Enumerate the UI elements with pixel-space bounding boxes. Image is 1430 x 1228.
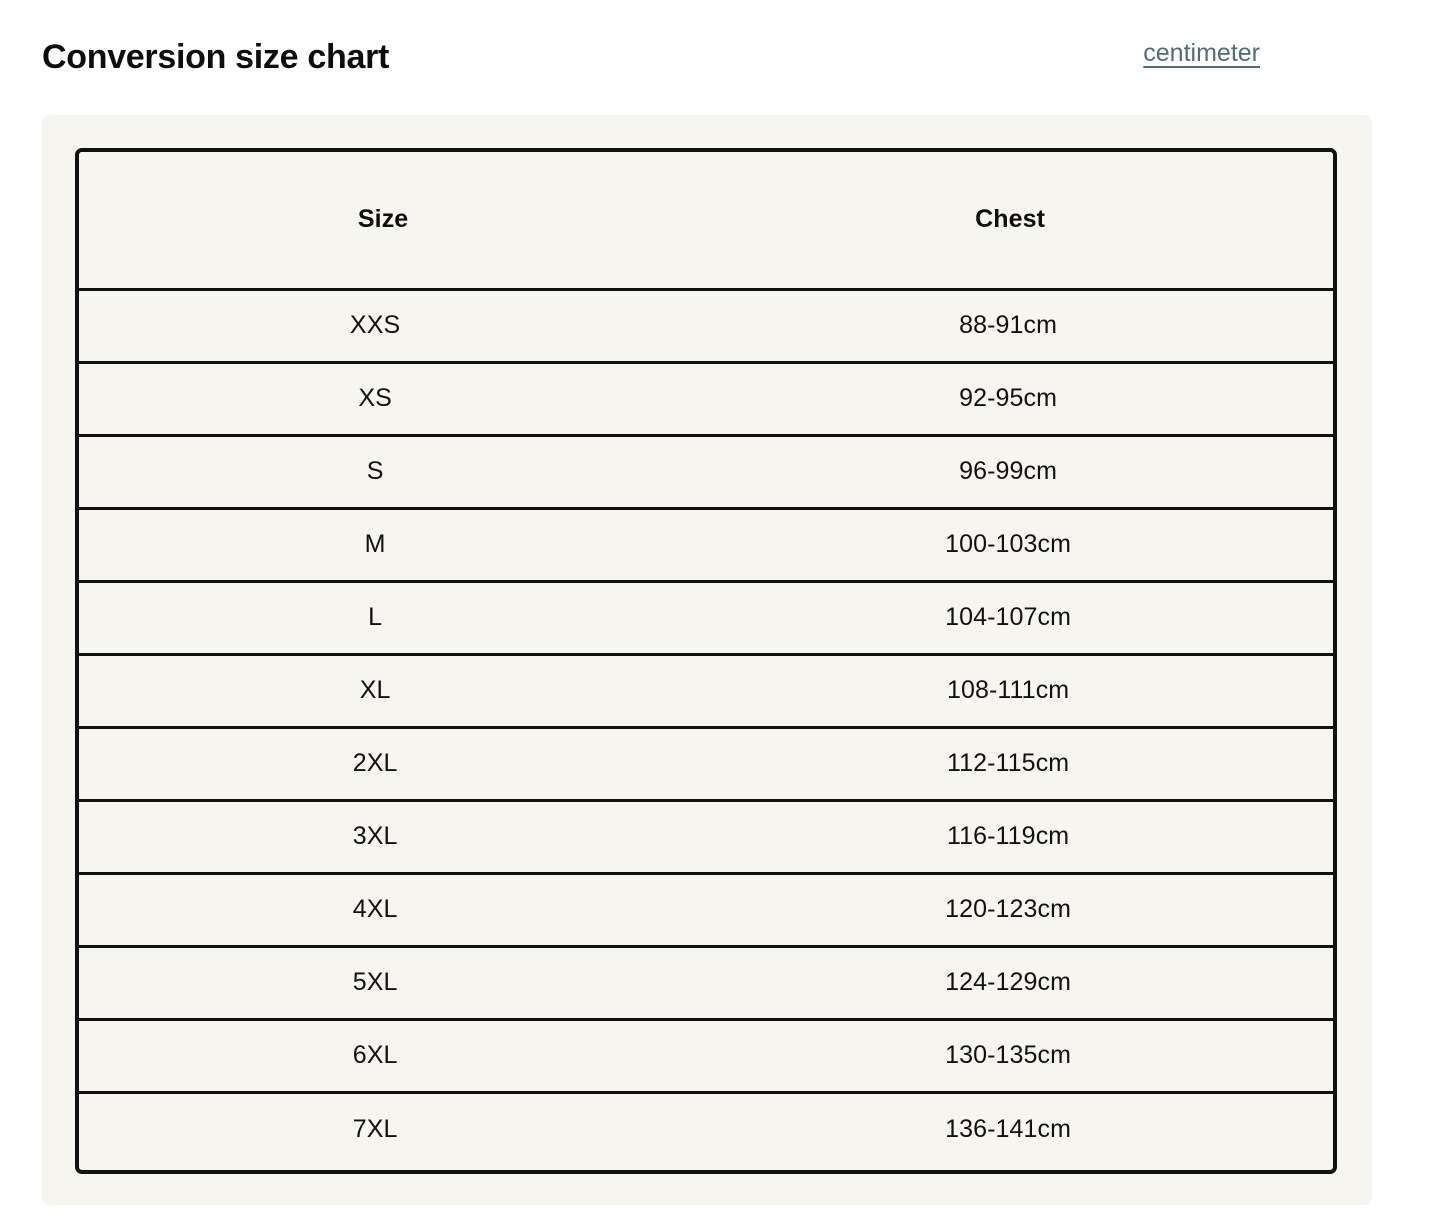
cell-chest: 100-103cm — [687, 508, 1333, 581]
cell-size-value: 6XL — [75, 1041, 679, 1070]
cell-chest: 116-119cm — [687, 800, 1333, 873]
cell-chest: 104-107cm — [687, 581, 1333, 654]
cell-size: 4XL — [79, 873, 687, 946]
table-header-row: Size Chest — [79, 152, 1333, 289]
column-header-size-label: Size — [79, 205, 687, 234]
cell-size: L — [79, 581, 687, 654]
cell-chest: 130-135cm — [687, 1019, 1333, 1092]
cell-size: 3XL — [79, 800, 687, 873]
table-header: Size Chest — [79, 152, 1333, 289]
cell-size: XXS — [79, 289, 687, 362]
table-row: 5XL124-129cm — [79, 946, 1333, 1019]
cell-chest: 96-99cm — [687, 435, 1333, 508]
cell-size-value: 7XL — [75, 1115, 679, 1144]
cell-chest-value: 100-103cm — [685, 530, 1331, 559]
table-row: 4XL120-123cm — [79, 873, 1333, 946]
table-row: XS92-95cm — [79, 362, 1333, 435]
table-row: S96-99cm — [79, 435, 1333, 508]
cell-chest-value: 112-115cm — [685, 749, 1331, 778]
cell-chest: 92-95cm — [687, 362, 1333, 435]
page-title: Conversion size chart — [42, 34, 389, 80]
cell-size: M — [79, 508, 687, 581]
column-header-chest: Chest — [687, 152, 1333, 289]
cell-size: XS — [79, 362, 687, 435]
cell-size: 5XL — [79, 946, 687, 1019]
size-chart-table: Size Chest XXS88-91cmXS92-95cmS96-99cmM1… — [75, 148, 1337, 1174]
cell-size-value: XL — [75, 676, 679, 705]
size-chart-panel: Size Chest XXS88-91cmXS92-95cmS96-99cmM1… — [42, 115, 1372, 1205]
cell-chest: 112-115cm — [687, 727, 1333, 800]
cell-chest: 124-129cm — [687, 946, 1333, 1019]
cell-size: XL — [79, 654, 687, 727]
cell-size: 6XL — [79, 1019, 687, 1092]
cell-chest: 136-141cm — [687, 1092, 1333, 1165]
cell-chest: 120-123cm — [687, 873, 1333, 946]
table-row: L104-107cm — [79, 581, 1333, 654]
table-row: 2XL112-115cm — [79, 727, 1333, 800]
cell-chest: 88-91cm — [687, 289, 1333, 362]
table-row: 7XL136-141cm — [79, 1092, 1333, 1165]
cell-size: 2XL — [79, 727, 687, 800]
cell-chest-value: 108-111cm — [685, 676, 1331, 705]
cell-chest-value: 120-123cm — [685, 895, 1331, 924]
cell-chest-value: 92-95cm — [685, 384, 1331, 413]
cell-chest: 108-111cm — [687, 654, 1333, 727]
cell-size-value: 5XL — [75, 968, 679, 997]
table-row: 3XL116-119cm — [79, 800, 1333, 873]
cell-size-value: L — [75, 603, 679, 632]
cell-size-value: XS — [75, 384, 679, 413]
table-row: 6XL130-135cm — [79, 1019, 1333, 1092]
table-body: XXS88-91cmXS92-95cmS96-99cmM100-103cmL10… — [79, 289, 1333, 1165]
table-row: XL108-111cm — [79, 654, 1333, 727]
cell-chest-value: 130-135cm — [685, 1041, 1331, 1070]
cell-chest-value: 88-91cm — [685, 311, 1331, 340]
cell-size-value: XXS — [75, 311, 679, 340]
cell-size: S — [79, 435, 687, 508]
cell-size-value: S — [75, 457, 679, 486]
cell-chest-value: 124-129cm — [685, 968, 1331, 997]
cell-chest-value: 104-107cm — [685, 603, 1331, 632]
cell-size-value: 4XL — [75, 895, 679, 924]
table-row: XXS88-91cm — [79, 289, 1333, 362]
unit-toggle-link[interactable]: centimeter — [1143, 36, 1260, 70]
cell-chest-value: 96-99cm — [685, 457, 1331, 486]
column-header-size: Size — [79, 152, 687, 289]
cell-size-value: 2XL — [75, 749, 679, 778]
cell-size-value: 3XL — [75, 822, 679, 851]
cell-chest-value: 116-119cm — [685, 822, 1331, 851]
column-header-chest-label: Chest — [687, 205, 1333, 234]
size-chart-page: Conversion size chart centimeter Size Ch… — [0, 0, 1430, 1228]
cell-size: 7XL — [79, 1092, 687, 1165]
page-header: Conversion size chart centimeter — [0, 0, 1430, 115]
table-row: M100-103cm — [79, 508, 1333, 581]
cell-size-value: M — [75, 530, 679, 559]
cell-chest-value: 136-141cm — [685, 1115, 1331, 1144]
